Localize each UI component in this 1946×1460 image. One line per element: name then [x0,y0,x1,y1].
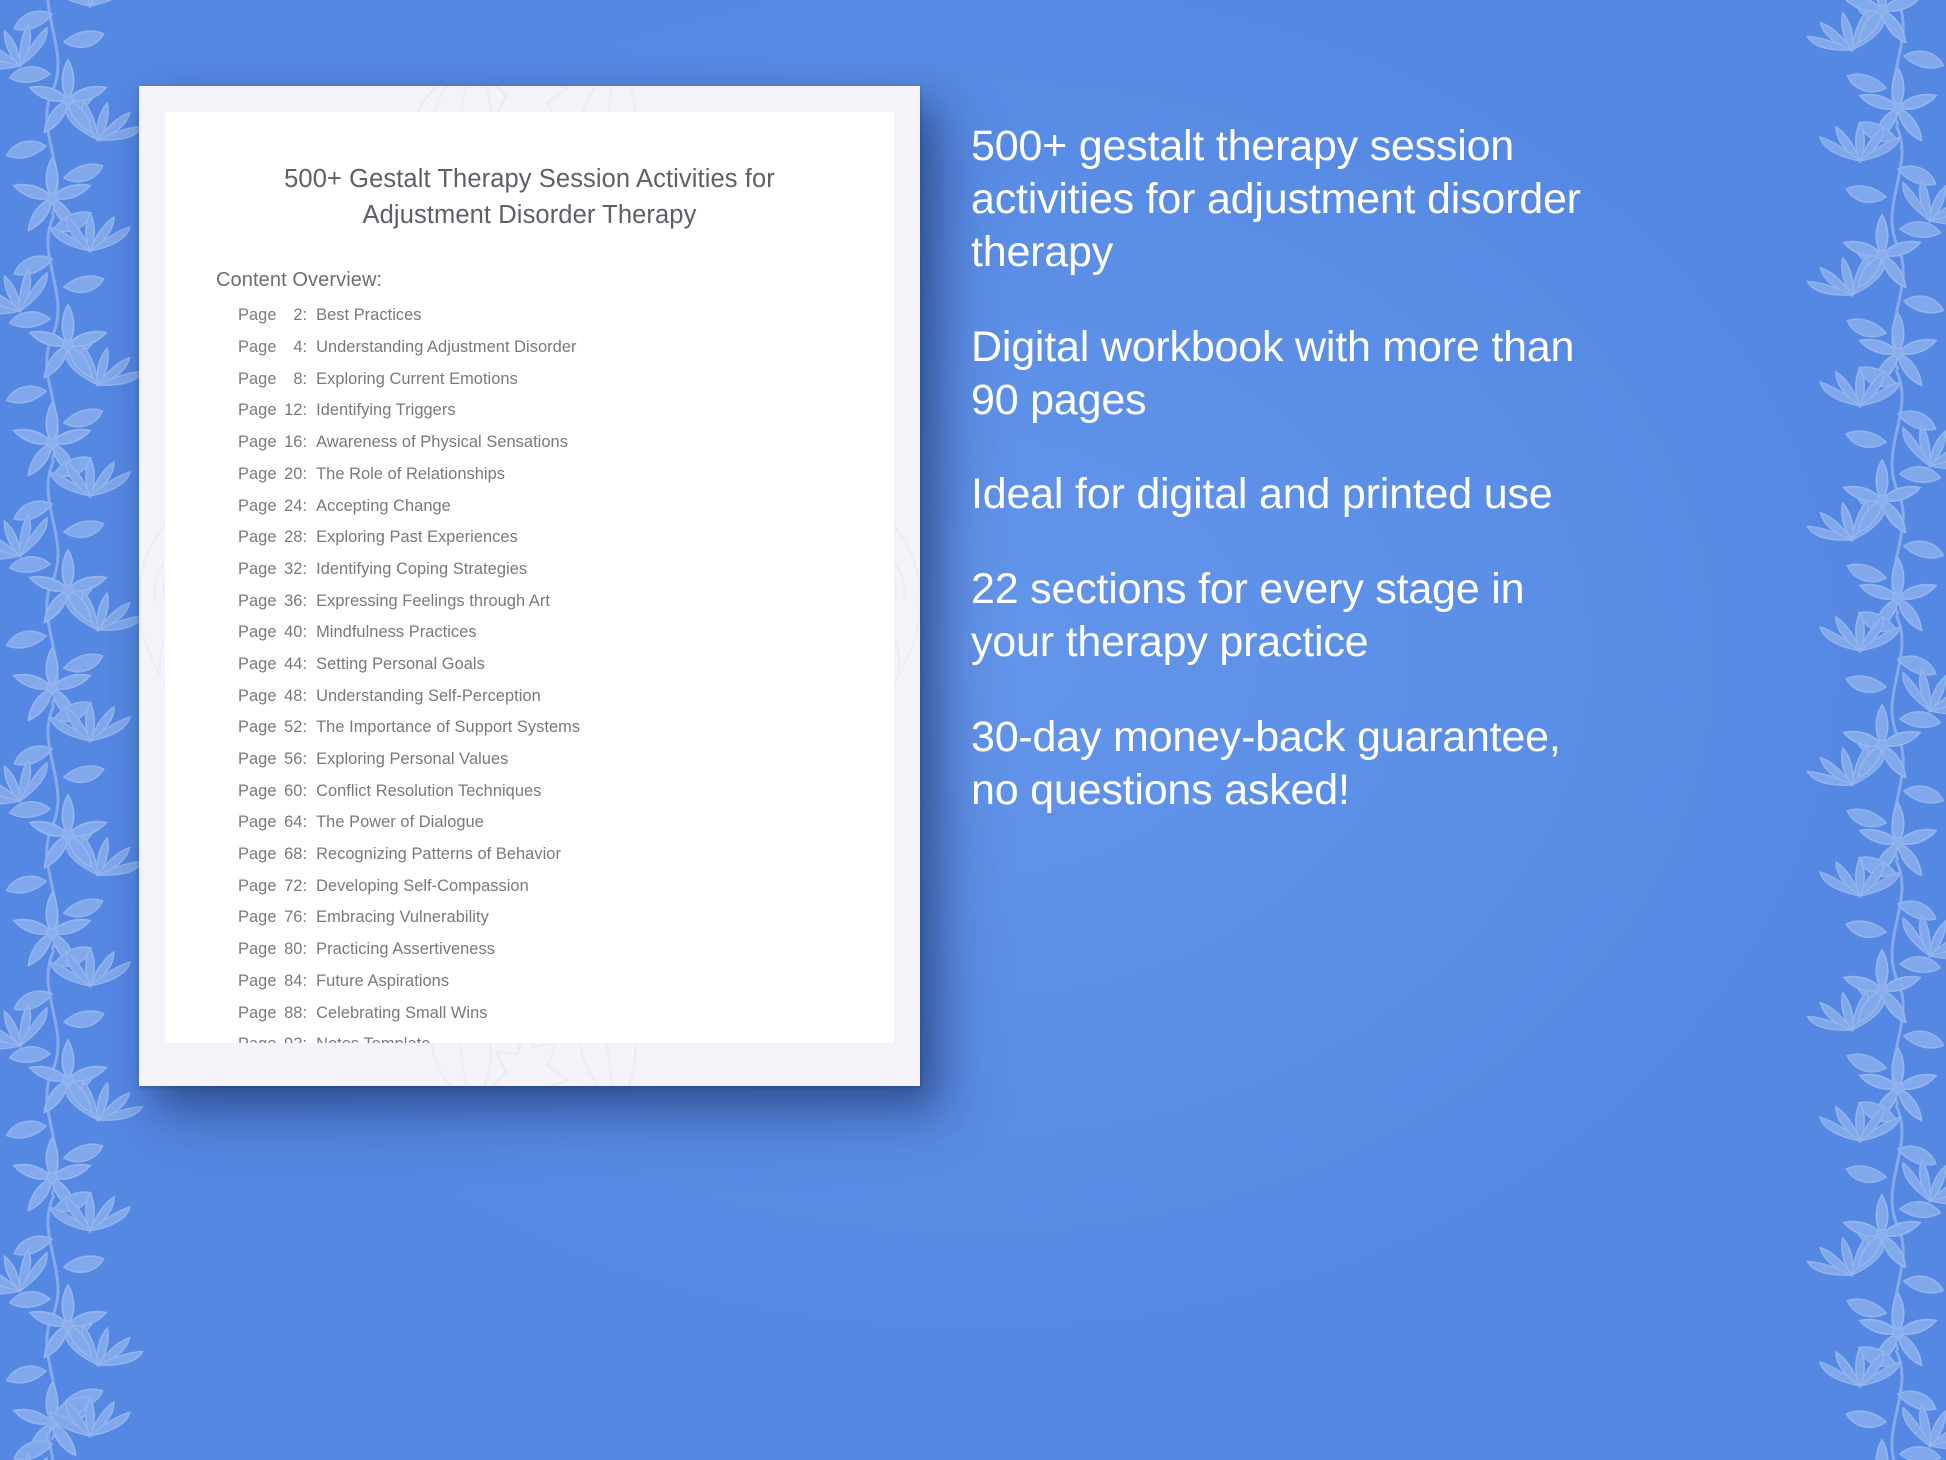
toc-section-title: Identifying Triggers [316,402,455,418]
toc-section-title: The Role of Relationships [316,466,505,482]
toc-colon: : [302,1036,307,1043]
toc-page-label: Page [238,339,276,355]
toc-page-number: 60 [276,783,302,799]
marketing-line: Ideal for digital and printed use [971,468,1611,521]
toc-section-title: The Power of Dialogue [316,814,484,830]
toc-page-label: Page [238,878,276,894]
toc-page-label: Page [238,624,276,640]
toc-section-title: Exploring Past Experiences [316,529,518,545]
toc-section-title: Recognizing Patterns of Behavior [316,846,561,862]
toc-section-title: Setting Personal Goals [316,656,485,672]
table-of-contents-row: Page56:Exploring Personal Values [238,751,894,783]
toc-page-label: Page [238,466,276,482]
toc-colon: : [302,402,307,418]
toc-section-title: Expressing Feelings through Art [316,593,550,609]
toc-section-title: Future Aspirations [316,973,449,989]
toc-page-label: Page [238,529,276,545]
table-of-contents-row: Page8:Exploring Current Emotions [238,371,894,403]
toc-page-label: Page [238,371,276,387]
table-of-contents-row: Page28:Exploring Past Experiences [238,529,894,561]
toc-section-title: Identifying Coping Strategies [316,561,527,577]
toc-colon: : [302,1005,307,1021]
toc-section-title: Understanding Self-Perception [316,688,541,704]
toc-page-number: 92 [276,1036,302,1043]
table-of-contents-row: Page80:Practicing Assertiveness [238,941,894,973]
marketing-line: Digital workbook with more than 90 pages [971,321,1611,427]
marketing-line: 22 sections for every stage in your ther… [971,563,1611,669]
toc-colon: : [302,371,307,387]
toc-section-title: Exploring Current Emotions [316,371,518,387]
toc-page-label: Page [238,593,276,609]
toc-colon: : [302,814,307,830]
toc-page-label: Page [238,941,276,957]
toc-colon: : [302,339,307,355]
table-of-contents-row: Page84:Future Aspirations [238,973,894,1005]
toc-page-number: 32 [276,561,302,577]
toc-section-title: Best Practices [316,307,421,323]
toc-page-label: Page [238,688,276,704]
toc-section-title: The Importance of Support Systems [316,719,580,735]
table-of-contents-row: Page20:The Role of Relationships [238,466,894,498]
table-of-contents-row: Page52:The Importance of Support Systems [238,719,894,751]
toc-page-label: Page [238,783,276,799]
toc-colon: : [302,434,307,450]
toc-colon: : [302,307,307,323]
table-of-contents-row: Page76:Embracing Vulnerability [238,909,894,941]
page-title: 500+ Gestalt Therapy Session Activities … [225,161,834,233]
toc-colon: : [302,941,307,957]
toc-page-label: Page [238,751,276,767]
toc-page-label: Page [238,307,276,323]
toc-page-label: Page [238,719,276,735]
table-of-contents-row: Page12:Identifying Triggers [238,402,894,434]
toc-colon: : [302,466,307,482]
toc-page-label: Page [238,561,276,577]
toc-page-number: 80 [276,941,302,957]
table-of-contents-row: Page64:The Power of Dialogue [238,814,894,846]
toc-page-number: 52 [276,719,302,735]
toc-page-label: Page [238,1005,276,1021]
toc-page-number: 4 [276,339,302,355]
toc-colon: : [302,561,307,577]
table-of-contents-row: Page16:Awareness of Physical Sensations [238,434,894,466]
toc-colon: : [302,656,307,672]
toc-page-number: 56 [276,751,302,767]
toc-page-number: 16 [276,434,302,450]
table-of-contents-row: Page88:Celebrating Small Wins [238,1005,894,1037]
toc-section-title: Developing Self-Compassion [316,878,529,894]
toc-colon: : [302,688,307,704]
toc-page-label: Page [238,434,276,450]
toc-page-label: Page [238,656,276,672]
toc-section-title: Exploring Personal Values [316,751,508,767]
toc-page-label: Page [238,498,276,514]
marketing-copy: 500+ gestalt therapy session activities … [971,120,1611,817]
toc-page-label: Page [238,909,276,925]
toc-page-number: 36 [276,593,302,609]
table-of-contents: Page2:Best PracticesPage4:Understanding … [238,307,894,1043]
toc-section-title: Practicing Assertiveness [316,941,495,957]
table-of-contents-row: Page4:Understanding Adjustment Disorder [238,339,894,371]
toc-colon: : [302,529,307,545]
toc-page-number: 48 [276,688,302,704]
toc-colon: : [302,783,307,799]
toc-colon: : [302,878,307,894]
toc-section-title: Understanding Adjustment Disorder [316,339,576,355]
toc-colon: : [302,593,307,609]
table-of-contents-row: Page92:Notes Template [238,1036,894,1043]
toc-page-number: 40 [276,624,302,640]
toc-page-number: 2 [276,307,302,323]
table-of-contents-row: Page32:Identifying Coping Strategies [238,561,894,593]
table-of-contents-row: Page40:Mindfulness Practices [238,624,894,656]
table-of-contents-row: Page2:Best Practices [238,307,894,339]
toc-colon: : [302,719,307,735]
table-of-contents-row: Page72:Developing Self-Compassion [238,878,894,910]
toc-section-title: Accepting Change [316,498,451,514]
toc-page-number: 68 [276,846,302,862]
toc-colon: : [302,624,307,640]
table-of-contents-row: Page60:Conflict Resolution Techniques [238,783,894,815]
toc-colon: : [302,909,307,925]
toc-section-title: Awareness of Physical Sensations [316,434,568,450]
toc-section-title: Conflict Resolution Techniques [316,783,541,799]
toc-page-number: 84 [276,973,302,989]
document-preview[interactable]: 500+ Gestalt Therapy Session Activities … [139,86,920,1086]
toc-page-number: 76 [276,909,302,925]
table-of-contents-row: Page36:Expressing Feelings through Art [238,593,894,625]
toc-section-title: Celebrating Small Wins [316,1005,487,1021]
toc-colon: : [302,973,307,989]
toc-page-number: 44 [276,656,302,672]
toc-section-title: Embracing Vulnerability [316,909,489,925]
toc-page-label: Page [238,814,276,830]
toc-page-number: 12 [276,402,302,418]
table-of-contents-row: Page68:Recognizing Patterns of Behavior [238,846,894,878]
toc-page-number: 28 [276,529,302,545]
table-of-contents-row: Page24:Accepting Change [238,498,894,530]
toc-page-number: 8 [276,371,302,387]
paper-mat: 500+ Gestalt Therapy Session Activities … [139,86,920,1086]
toc-page-label: Page [238,402,276,418]
toc-page-number: 24 [276,498,302,514]
toc-section-title: Mindfulness Practices [316,624,476,640]
table-of-contents-row: Page44:Setting Personal Goals [238,656,894,688]
toc-colon: : [302,498,307,514]
toc-page-number: 88 [276,1005,302,1021]
toc-section-title: Notes Template [316,1036,430,1043]
toc-page-label: Page [238,1036,276,1043]
content-overview-label: Content Overview: [216,269,894,292]
toc-colon: : [302,846,307,862]
table-of-contents-row: Page48:Understanding Self-Perception [238,688,894,720]
toc-page-label: Page [238,973,276,989]
toc-colon: : [302,751,307,767]
toc-page-number: 20 [276,466,302,482]
marketing-line: 500+ gestalt therapy session activities … [971,120,1611,279]
toc-page-number: 72 [276,878,302,894]
toc-page-number: 64 [276,814,302,830]
toc-page-label: Page [238,846,276,862]
marketing-line: 30-day money-back guarantee, no question… [971,711,1611,817]
document-page: 500+ Gestalt Therapy Session Activities … [165,112,894,1043]
